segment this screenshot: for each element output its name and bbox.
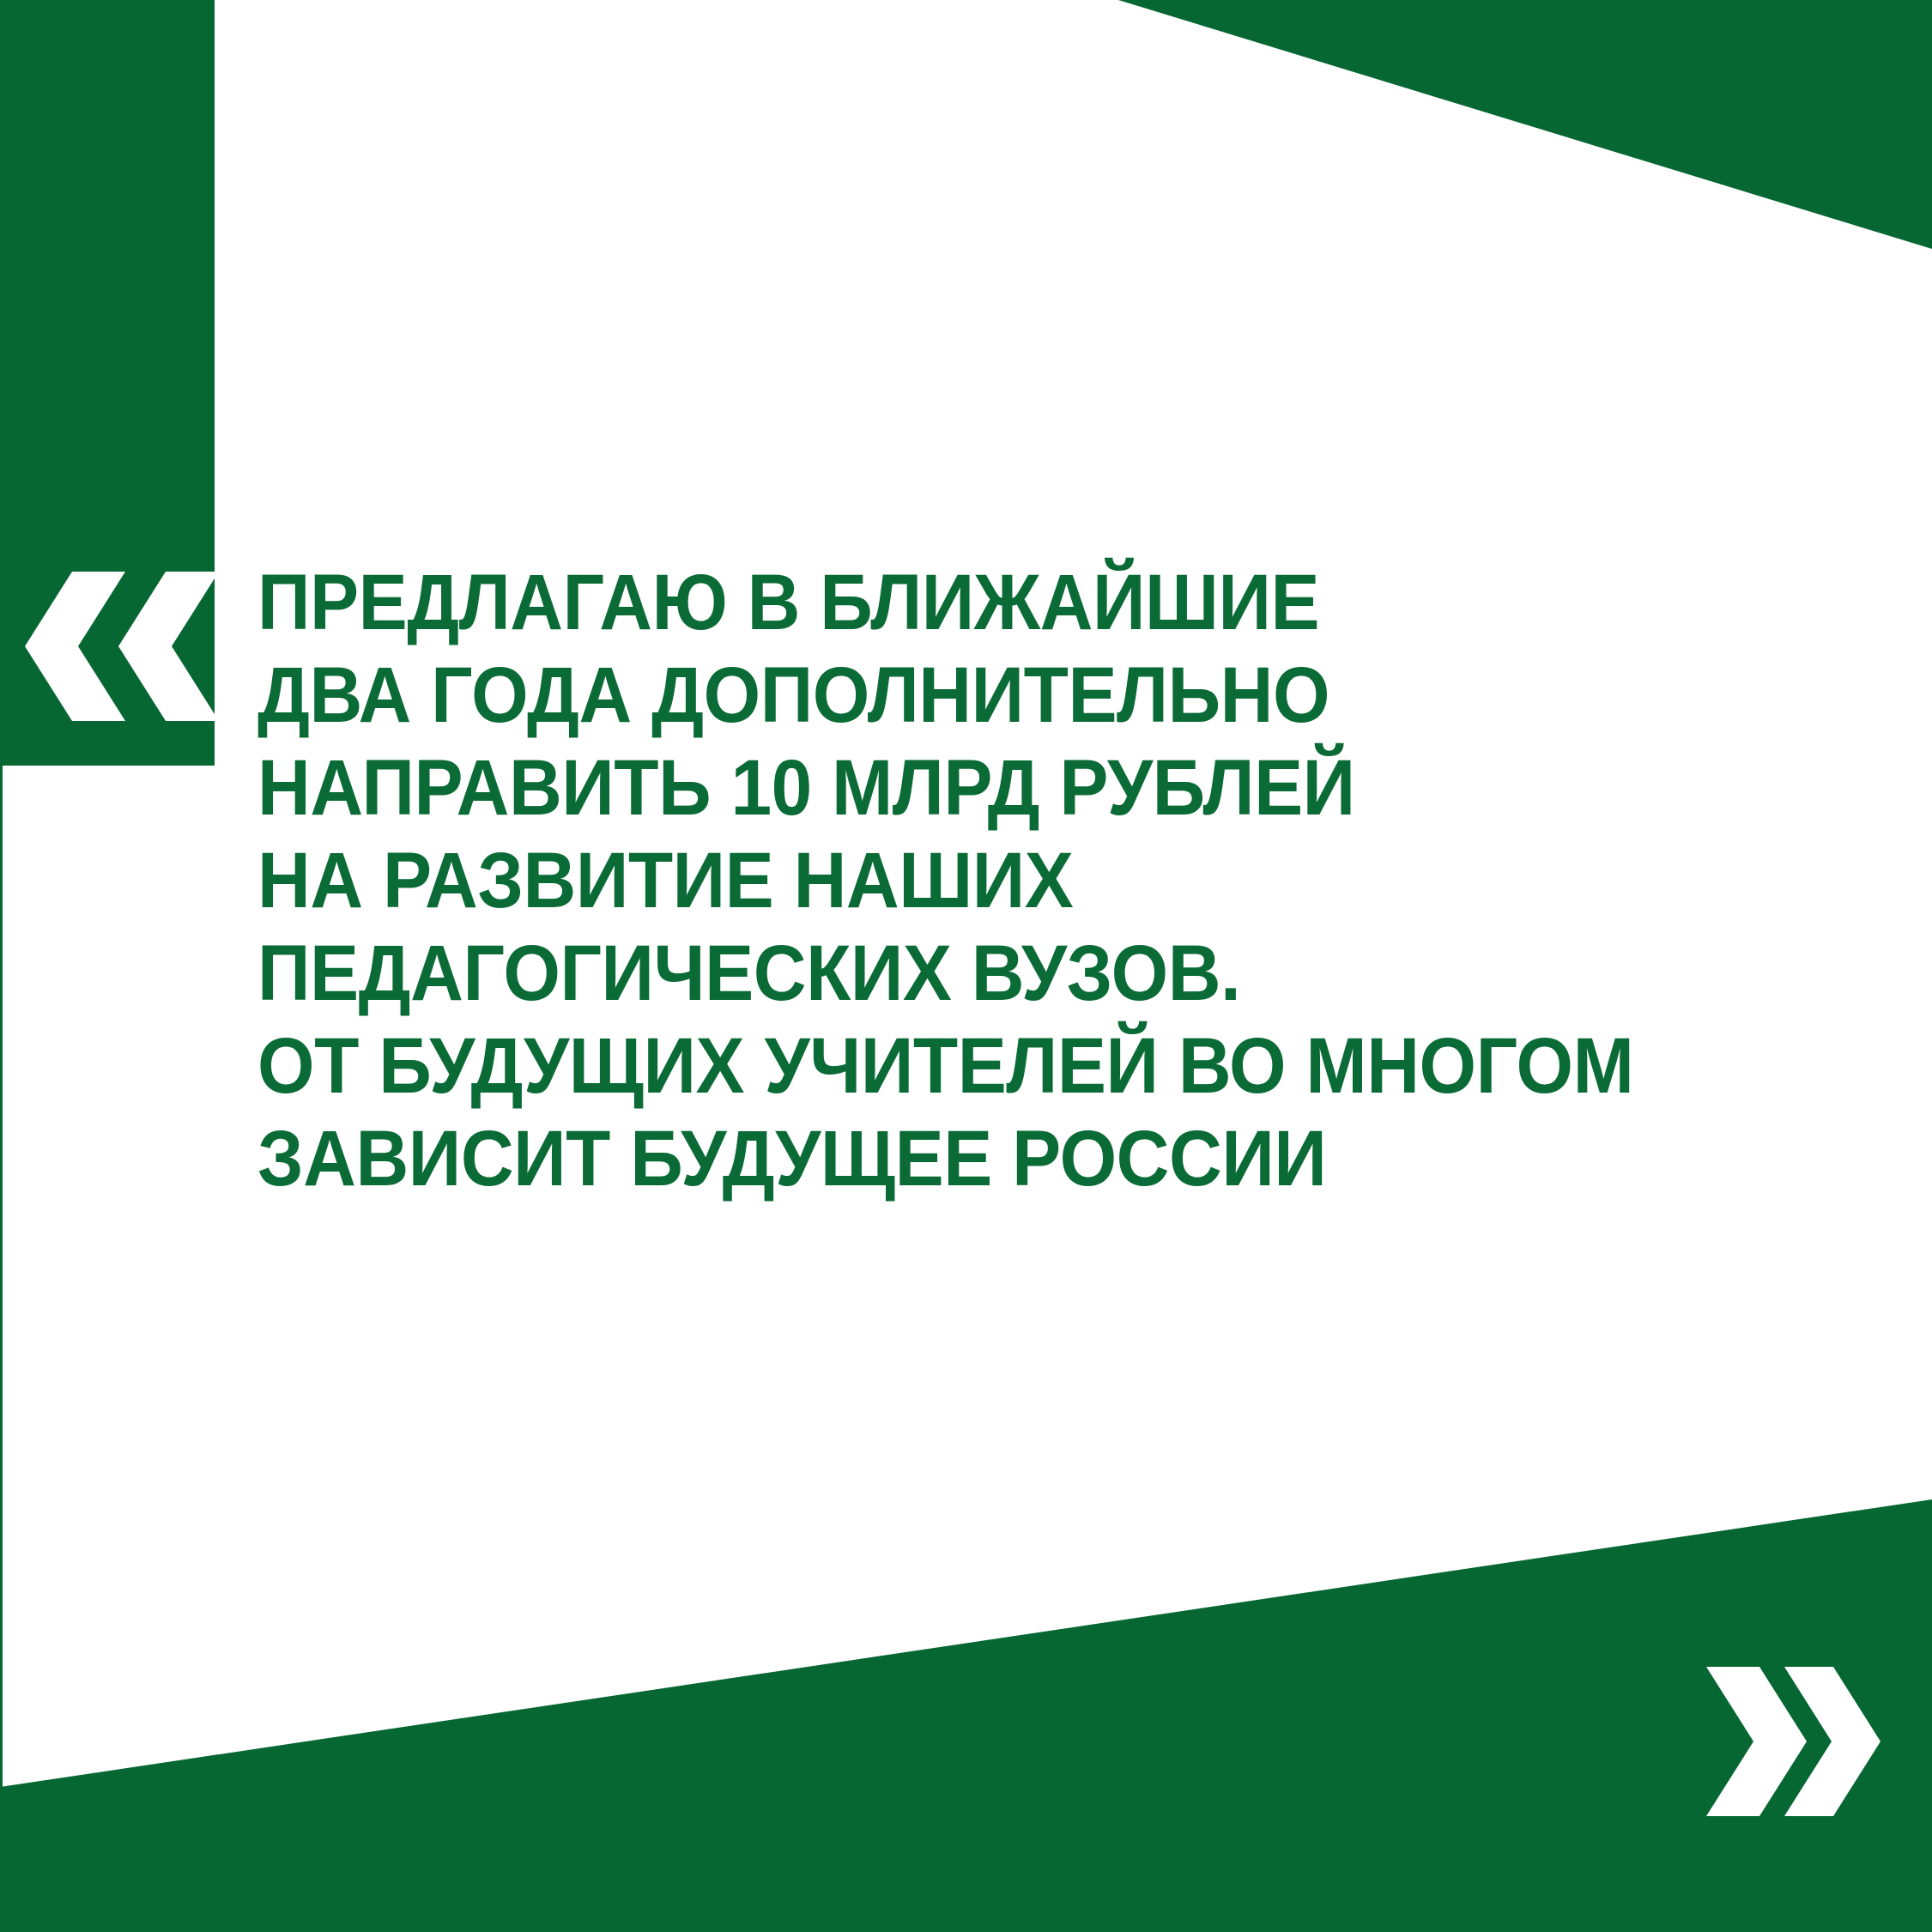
quote-line: ПЕДАГОГИЧЕСКИХ ВУЗОВ.: [257, 927, 1758, 1020]
top-right-diagonal-band: [1118, 0, 1932, 249]
double-chevron-left-icon: [24, 572, 221, 721]
quote-line: НАПРАВИТЬ 10 МЛРД РУБЛЕЙ: [257, 742, 1758, 834]
quote-line: НА РАЗВИТИЕ НАШИХ: [257, 834, 1758, 927]
quote-text-block: ПРЕДЛАГАЮ В БЛИЖАЙШИЕ ДВА ГОДА ДОПОЛНИТЕ…: [257, 556, 1871, 1205]
quote-line: ПРЕДЛАГАЮ В БЛИЖАЙШИЕ: [257, 556, 1758, 649]
quote-line: ОТ БУДУЩИХ УЧИТЕЛЕЙ ВО МНОГОМ: [257, 1020, 1758, 1112]
quote-line: ДВА ГОДА ДОПОЛНИТЕЛЬНО: [257, 649, 1758, 742]
bottom-diagonal-band: [0, 1499, 1932, 1932]
quote-card: ПРЕДЛАГАЮ В БЛИЖАЙШИЕ ДВА ГОДА ДОПОЛНИТЕ…: [0, 0, 1932, 1932]
quote-line: ЗАВИСИТ БУДУЩЕЕ РОССИИ: [257, 1112, 1758, 1205]
double-chevron-right-icon: [1704, 1667, 1881, 1816]
